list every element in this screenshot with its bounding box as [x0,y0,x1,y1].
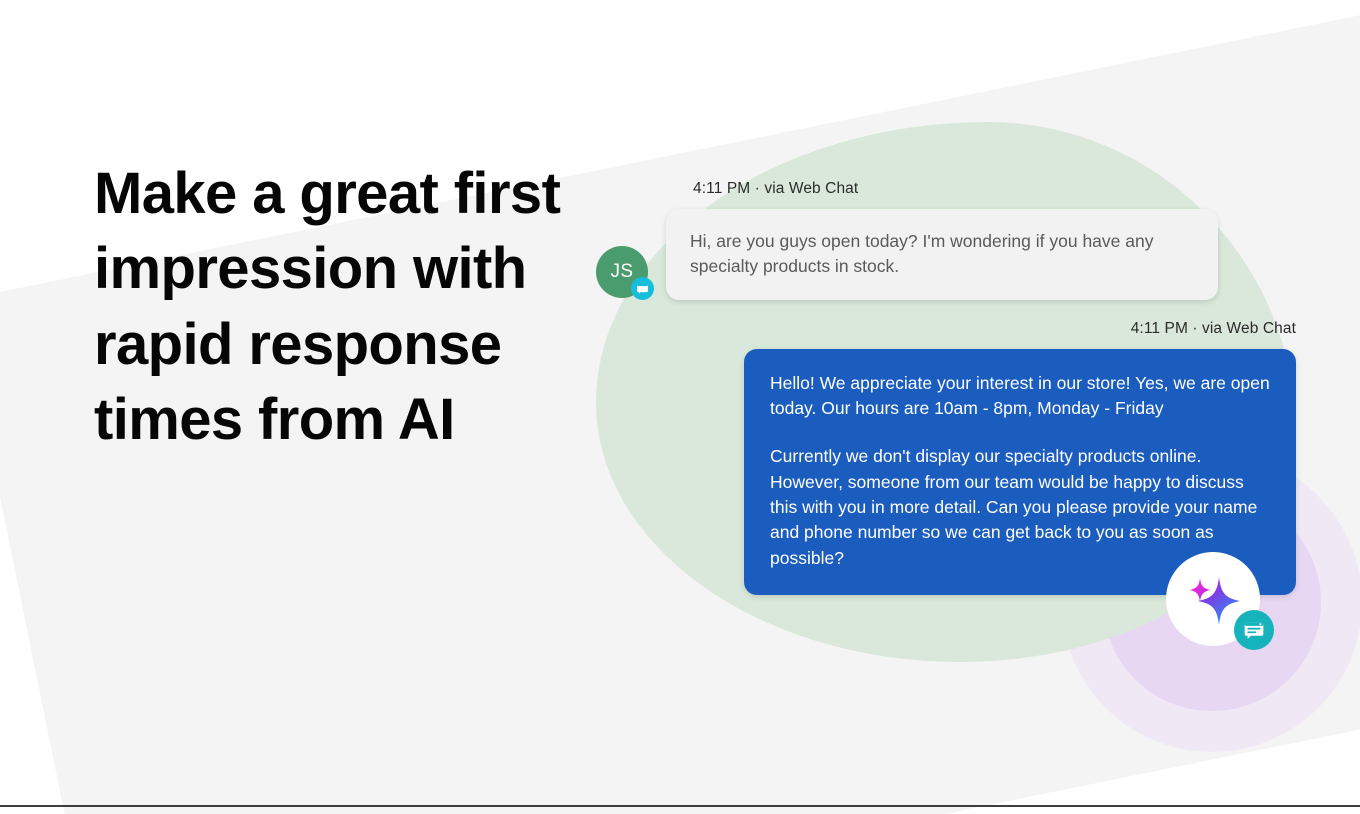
outgoing-paragraph: Hello! We appreciate your interest in ou… [770,371,1270,422]
page-title: Make a great first impression with rapid… [94,156,614,458]
incoming-timestamp: 4:11 PM · via Web Chat [693,180,1296,199]
bottom-divider [0,805,1360,807]
incoming-bubble: Hi, are you guys open today? I'm wonderi… [666,209,1218,300]
chat-icon [631,277,654,300]
avatar: JS [596,246,648,298]
incoming-message: 4:11 PM · via Web Chat JS Hi, are you gu… [596,180,1296,300]
ai-assistant-avatar [1166,552,1260,646]
chat-conversation: 4:11 PM · via Web Chat JS Hi, are you gu… [596,180,1296,595]
hero-graphic: Make a great first impression with rapid… [0,0,1360,814]
outgoing-timestamp: 4:11 PM · via Web Chat [596,320,1296,339]
chat-window-icon [1234,610,1274,650]
